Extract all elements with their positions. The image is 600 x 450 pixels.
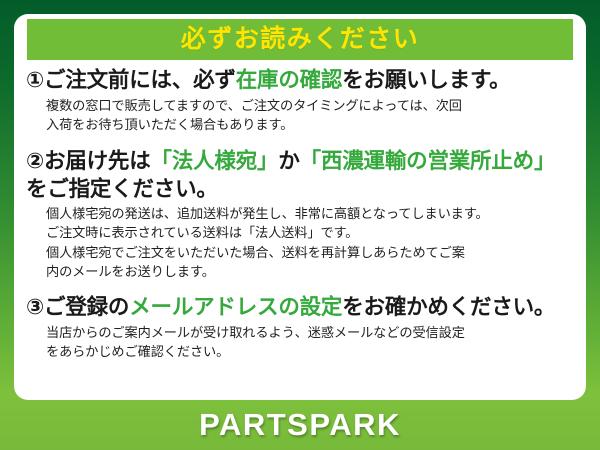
notice-banner: 必ずお読みください ①ご注文前には、必ず在庫の確認をお願いします。 複数の窓口で… — [0, 0, 600, 450]
item-2-subline-2: ご注文時に表示されている送料は「法人送料」です。 — [46, 223, 576, 242]
item-3-heading: ③ご登録のメールアドレスの設定をお確かめください。 — [26, 294, 576, 322]
item-2-subline-4: 内のメールをお送りします。 — [46, 262, 576, 281]
item-2-heading: ②お届け先は「法人様宛」か「西濃運輸の営業所止め」をご指定ください。 — [26, 148, 576, 203]
item-2-heading-before: お届け先は — [44, 149, 151, 173]
item-3-heading-after: をお確かめください。 — [342, 295, 555, 319]
item-3-subline-2: をあらかじめご確認ください。 — [46, 342, 576, 361]
item-3-heading-before: ご登録の — [44, 295, 129, 319]
page-title: 必ずお読みください — [181, 27, 420, 52]
item-1-heading: ①ご注文前には、必ず在庫の確認をお願いします。 — [26, 67, 576, 95]
item-2-marker: ② — [26, 149, 44, 173]
notice-panel: 必ずお読みください ①ご注文前には、必ず在庫の確認をお願いします。 複数の窓口で… — [14, 14, 586, 400]
item-3-marker: ③ — [26, 295, 44, 319]
item-2-heading-highlight-1: 「法人様宛」 — [151, 149, 279, 173]
item-1-subline-1: 複数の窓口で販売してますので、ご注文のタイミングによっては、次回 — [46, 96, 576, 115]
item-1-heading-before: ご注文前には、必ず — [44, 68, 236, 92]
item-2-subline-1: 個人様宅宛の発送は、追加送料が発生し、非常に高額となってしまいます。 — [46, 204, 576, 223]
item-1-heading-after: をお願いします。 — [342, 68, 510, 92]
notice-item-3: ③ご登録のメールアドレスの設定をお確かめください。 当店からのご案内メールが受け… — [26, 294, 576, 361]
item-1-heading-highlight: 在庫の確認 — [236, 68, 343, 92]
item-1-subtext: 複数の窓口で販売してますので、ご注文のタイミングによっては、次回 入荷をお待ち頂… — [46, 96, 576, 135]
item-2-subline-3: 個人様宅宛でご注文をいただいた場合、送料を再計算しあらためてご案 — [46, 243, 576, 262]
item-3-subtext: 当店からのご案内メールが受け取れるよう、迷惑メールなどの受信設定 をあらかじめご… — [46, 323, 576, 362]
item-2-heading-middle: か — [278, 149, 299, 173]
item-3-heading-highlight: メールアドレスの設定 — [129, 295, 342, 319]
notice-title-bar: 必ずお読みください — [27, 19, 573, 60]
item-3-subline-1: 当店からのご案内メールが受け取れるよう、迷惑メールなどの受信設定 — [46, 323, 576, 342]
item-1-marker: ① — [26, 68, 44, 92]
item-2-subtext: 個人様宅宛の発送は、追加送料が発生し、非常に高額となってしまいます。 ご注文時に… — [46, 204, 576, 281]
notice-item-2: ②お届け先は「法人様宛」か「西濃運輸の営業所止め」をご指定ください。 個人様宅宛… — [26, 148, 576, 281]
item-1-subline-2: 入荷をお待ち頂いただく場合もあります。 — [46, 115, 576, 134]
notice-item-1: ①ご注文前には、必ず在庫の確認をお願いします。 複数の窓口で販売してますので、ご… — [26, 67, 576, 134]
item-2-heading-highlight-2: 「西濃運輸の営業所止め」 — [300, 149, 556, 173]
notice-content: ①ご注文前には、必ず在庫の確認をお願いします。 複数の窓口で販売してますので、ご… — [14, 66, 586, 363]
footer-band: PARTSPARK — [0, 400, 600, 450]
item-2-heading-after: をご指定ください。 — [26, 177, 218, 201]
brand-name: PARTSPARK — [199, 407, 401, 443]
